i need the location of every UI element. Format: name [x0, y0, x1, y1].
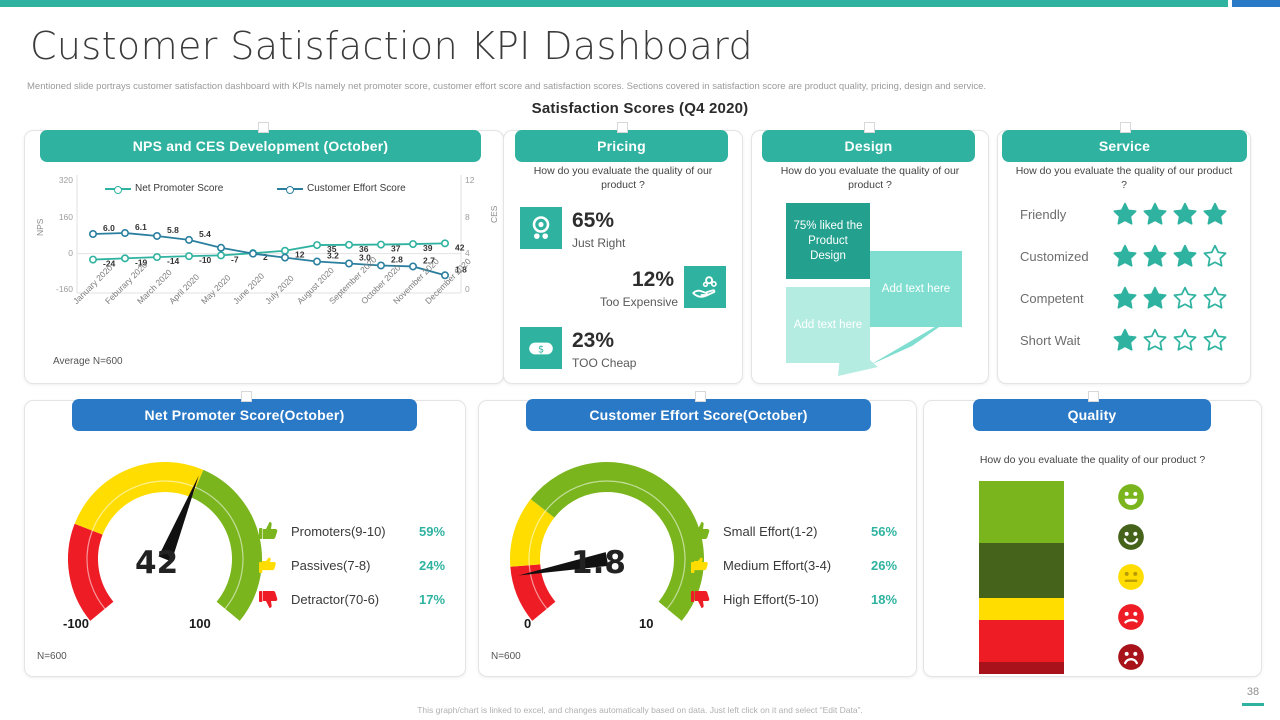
nps-ces-chart-card: NPS CES 320 160 0 -160 12 8 4 0 Net Prom… [24, 130, 504, 384]
happy-face-icon [1117, 523, 1145, 551]
nps-gauge-value: 42 [135, 545, 178, 581]
quality-question: How do you evaluate the quality of our p… [934, 453, 1251, 467]
quality-bar-segment-3 [979, 620, 1064, 662]
ces-card-ribbon: Customer Effort Score(October) [526, 399, 871, 431]
nps-legend-label-0: Promoters(9-10) [291, 524, 419, 539]
nps-legend-row-2: Detractor(70-6)17% [257, 587, 445, 611]
pricing-label-2: TOO Cheap [572, 356, 636, 370]
section-title: Satisfaction Scores (Q4 2020) [0, 100, 1280, 117]
pricing-pct-1: 12% [632, 268, 674, 292]
service-row-1: Customized [1020, 243, 1228, 269]
nps-sample-size: N=600 [37, 651, 67, 662]
nps-gauge-min-label: -100 [63, 616, 89, 631]
nps-gauge-max-label: 100 [189, 616, 211, 631]
pricing-label-0: Just Right [572, 236, 625, 250]
thumbs-side-icon [689, 553, 713, 577]
pricing-card: How do you evaluate the quality of our p… [503, 130, 743, 384]
ces-legend-pct-2: 18% [871, 592, 897, 607]
design-bubble-0: 75% liked the Product Design [786, 203, 870, 279]
service-card-ribbon: Service [1002, 130, 1247, 162]
star-filled-icon[interactable] [1172, 201, 1198, 227]
pricing-pct-0: 65% [572, 209, 614, 233]
design-bubble-text-0: 75% liked the Product Design [786, 203, 870, 279]
service-row-label-3: Short Wait [1020, 333, 1112, 348]
svg-text:6.0: 6.0 [103, 223, 115, 233]
quality-bar-segment-1 [979, 543, 1064, 598]
nps-legend-label-1: Passives(7-8) [291, 558, 419, 573]
quality-card: How do you evaluate the quality of our p… [923, 400, 1262, 677]
service-row-label-2: Competent [1020, 291, 1112, 306]
chart-footnote: Average N=600 [53, 356, 123, 367]
hand-coins-icon [684, 266, 726, 308]
service-row-label-0: Friendly [1020, 207, 1112, 222]
svg-text:42: 42 [455, 242, 465, 252]
design-bubble-text-1: Add text here [870, 251, 962, 327]
ces-sample-size: N=600 [491, 651, 521, 662]
top-accent-teal [0, 0, 1228, 7]
design-bubble-2[interactable]: Add text here [786, 287, 870, 363]
ces-legend-pct-0: 56% [871, 524, 897, 539]
angry-face-icon [1117, 643, 1145, 671]
nps-legend-pct-1: 24% [419, 558, 445, 573]
page-subtitle: Mentioned slide portrays customer satisf… [27, 80, 1257, 93]
thumbs-down-icon [257, 587, 281, 611]
banknote-icon: $ [520, 327, 562, 369]
design-bubble-1[interactable]: Add text here [870, 251, 962, 327]
svg-text:-7: -7 [231, 254, 239, 264]
nps-gauge-dial [47, 431, 287, 641]
svg-text:$: $ [538, 344, 544, 355]
nps-legend-label-2: Detractor(70-6) [291, 592, 419, 607]
gauge-segment-1 [525, 508, 543, 565]
chart-card-ribbon: NPS and CES Development (October) [40, 130, 481, 162]
ces-legend-label-2: High Effort(5-10) [723, 592, 871, 607]
ces-gauge-value: 1.8 [571, 545, 626, 581]
svg-text:-14: -14 [167, 256, 180, 266]
star-empty-icon[interactable] [1202, 285, 1228, 311]
star-empty-icon[interactable] [1142, 327, 1168, 353]
chart-card-pin-icon [258, 122, 269, 133]
page-number: 38 [1240, 686, 1266, 698]
nps-legend-pct-2: 17% [419, 592, 445, 607]
nps-legend-row-1: Passives(7-8)24% [257, 553, 445, 577]
design-bubble-text-2: Add text here [786, 287, 870, 363]
nps-legend-pct-0: 59% [419, 524, 445, 539]
thumbs-side-icon [257, 553, 281, 577]
design-card-pin-icon [864, 122, 875, 133]
service-row-0: Friendly [1020, 201, 1228, 227]
ces-gauge-card: 1.8 0 10 Small Effort(1-2)56%Medium Effo… [478, 400, 917, 677]
star-filled-icon[interactable] [1112, 327, 1138, 353]
page-number-text: 38 [1247, 686, 1259, 698]
star-empty-icon[interactable] [1202, 243, 1228, 269]
page-number-underline [1242, 703, 1264, 706]
svg-text:3.2: 3.2 [327, 251, 339, 261]
ces-card-pin-icon [695, 391, 706, 402]
design-card: How do you evaluate the quality of our p… [751, 130, 989, 384]
ces-gauge-max-label: 10 [639, 616, 653, 631]
star-empty-icon[interactable] [1172, 327, 1198, 353]
service-card: How do you evaluate the quality of our p… [997, 130, 1251, 384]
pricing-card-ribbon: Pricing [515, 130, 728, 162]
top-accent-blue [1232, 0, 1280, 7]
svg-text:-10: -10 [199, 255, 212, 265]
star-filled-icon[interactable] [1142, 201, 1168, 227]
page-title: Customer Satisfaction KPI Dashboard [30, 24, 1230, 68]
star-filled-icon[interactable] [1142, 285, 1168, 311]
neutral-face-icon [1117, 563, 1145, 591]
svg-text:2: 2 [263, 252, 268, 262]
footer-note: This graph/chart is linked to excel, and… [0, 705, 1280, 715]
svg-text:5.8: 5.8 [167, 225, 179, 235]
ces-gauge-min-label: 0 [524, 616, 531, 631]
service-row-stars-1[interactable] [1112, 243, 1228, 269]
pricing-label-1: Too Expensive [600, 295, 678, 309]
thumbs-up-icon [257, 519, 281, 543]
pricing-card-pin-icon [617, 122, 628, 133]
svg-text:37: 37 [391, 244, 401, 254]
gauge-segment-0 [83, 529, 102, 611]
service-row-stars-2[interactable] [1112, 285, 1228, 311]
ces-legend-pct-1: 26% [871, 558, 897, 573]
quality-bar-segment-0 [979, 481, 1064, 543]
quality-bar-segment-2 [979, 598, 1064, 620]
svg-text:39: 39 [423, 243, 433, 253]
thumbs-up-icon [689, 519, 713, 543]
star-filled-icon[interactable] [1112, 201, 1138, 227]
star-empty-icon[interactable] [1172, 285, 1198, 311]
quality-card-ribbon: Quality [973, 399, 1211, 431]
ces-legend-label-1: Medium Effort(3-4) [723, 558, 871, 573]
nps-legend-row-0: Promoters(9-10)59% [257, 519, 445, 543]
ces-legend-row-0: Small Effort(1-2)56% [689, 519, 897, 543]
service-row-3: Short Wait [1020, 327, 1228, 353]
star-empty-icon[interactable] [1202, 327, 1228, 353]
nps-gauge-card: 42 -100 100 Promoters(9-10)59%Passives(7… [24, 400, 466, 677]
quality-stacked-bar [979, 481, 1064, 674]
service-question: How do you evaluate the quality of our p… [1014, 164, 1234, 192]
pricing-pct-2: 23% [572, 329, 614, 353]
star-filled-icon[interactable] [1142, 243, 1168, 269]
star-filled-icon[interactable] [1112, 243, 1138, 269]
sad-face-icon [1117, 603, 1145, 631]
top-accent-bar [0, 0, 1280, 7]
quality-bar-segment-4 [979, 662, 1064, 674]
star-filled-icon[interactable] [1172, 243, 1198, 269]
service-card-pin-icon [1120, 122, 1131, 133]
gauge-segment-2 [197, 484, 247, 612]
service-row-stars-3[interactable] [1112, 327, 1228, 353]
ces-legend-label-0: Small Effort(1-2) [723, 524, 871, 539]
star-filled-icon[interactable] [1112, 285, 1138, 311]
svg-text:5.4: 5.4 [199, 229, 211, 239]
very-happy-face-icon [1117, 483, 1145, 511]
design-card-ribbon: Design [762, 130, 975, 162]
pricing-question: How do you evaluate the quality of our p… [518, 164, 728, 192]
star-filled-icon[interactable] [1202, 201, 1228, 227]
ces-legend-row-2: High Effort(5-10)18% [689, 587, 897, 611]
nps-card-ribbon: Net Promoter Score(October) [72, 399, 417, 431]
nps-card-pin-icon [241, 391, 252, 402]
badge-icon [520, 207, 562, 249]
ces-legend-row-1: Medium Effort(3-4)26% [689, 553, 897, 577]
service-row-label-1: Customized [1020, 249, 1112, 264]
thumbs-down-icon [689, 587, 713, 611]
quality-card-pin-icon [1088, 391, 1099, 402]
svg-text:6.1: 6.1 [135, 222, 147, 232]
service-row-2: Competent [1020, 285, 1228, 311]
service-row-stars-0[interactable] [1112, 201, 1228, 227]
